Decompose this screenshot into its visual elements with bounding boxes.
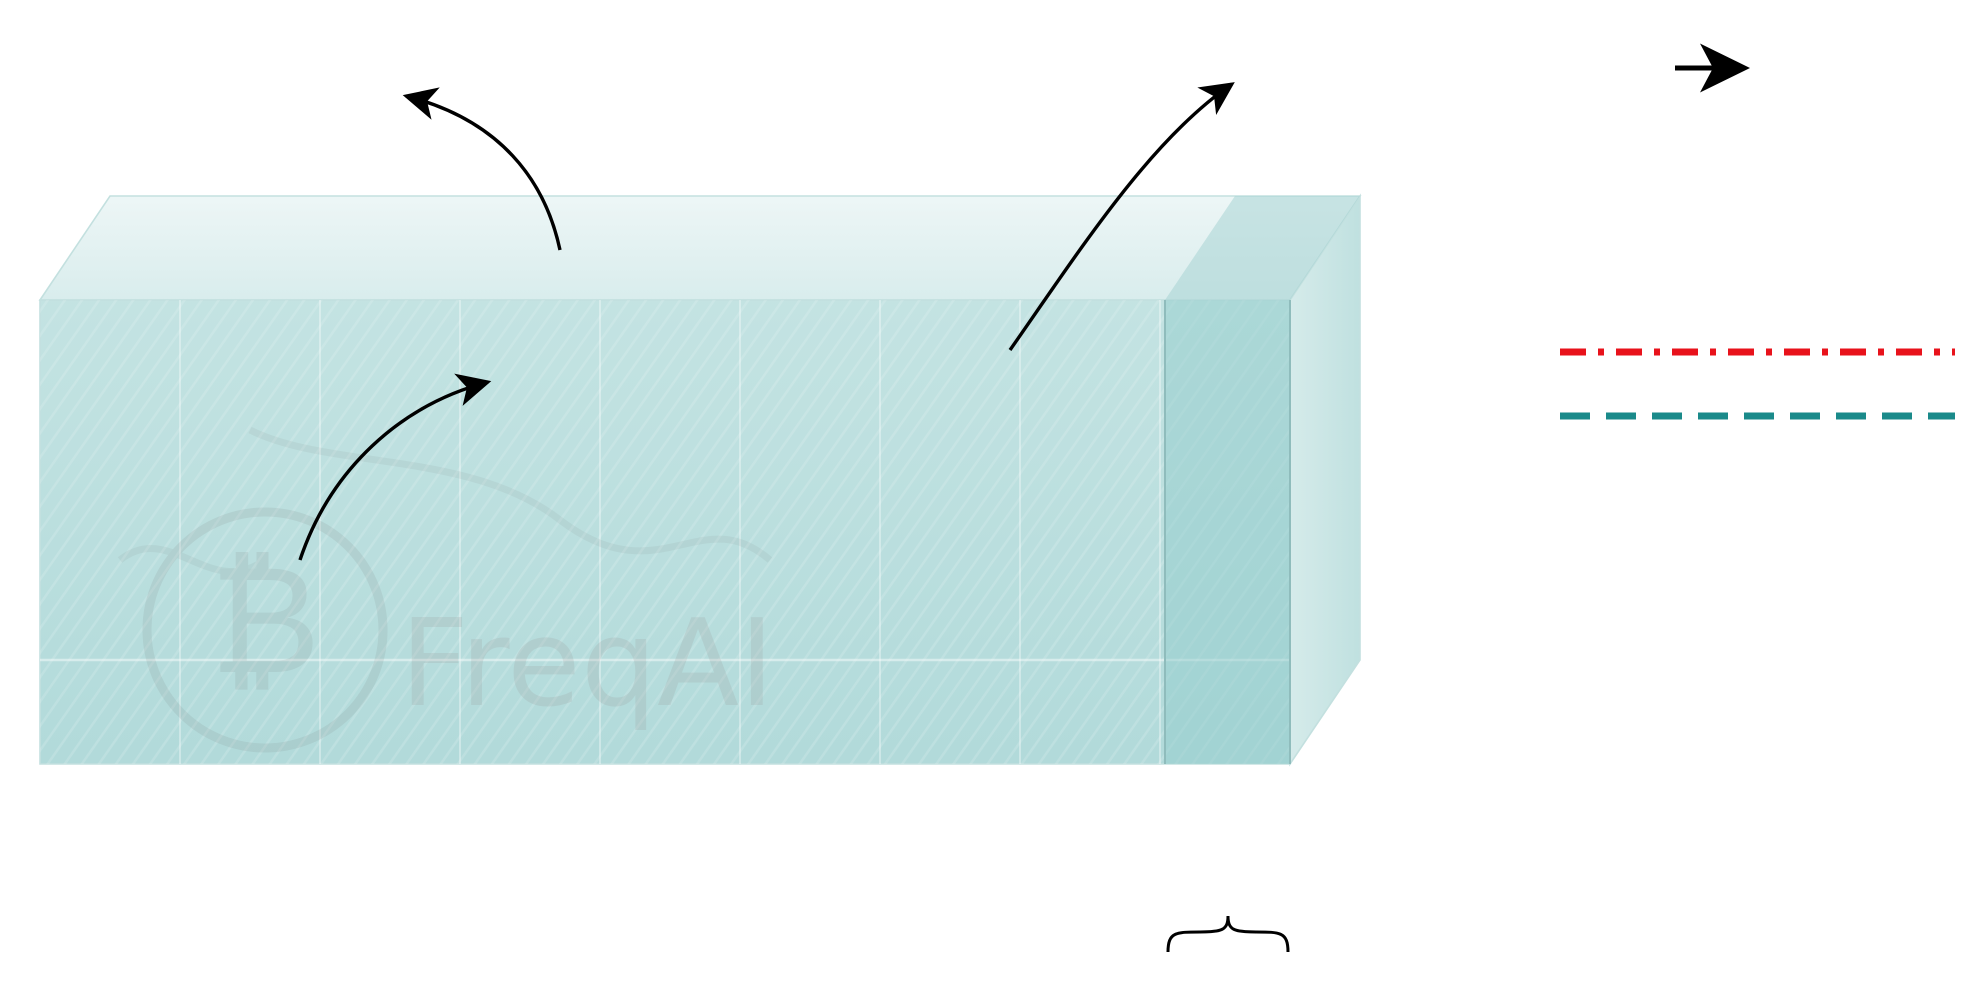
- diagram-svg: ₿ FreqAI: [0, 0, 1966, 981]
- box-top-face: [40, 196, 1360, 300]
- current-model-annotation: [845, 427, 893, 685]
- diagram-canvas: ₿ FreqAI: [0, 0, 1966, 981]
- training-window-brace: [1168, 916, 1288, 952]
- old-model-annotation: [497, 222, 545, 480]
- raw-price-annotation: [200, 548, 248, 806]
- freqai-watermark-text: FreqAI: [400, 595, 774, 734]
